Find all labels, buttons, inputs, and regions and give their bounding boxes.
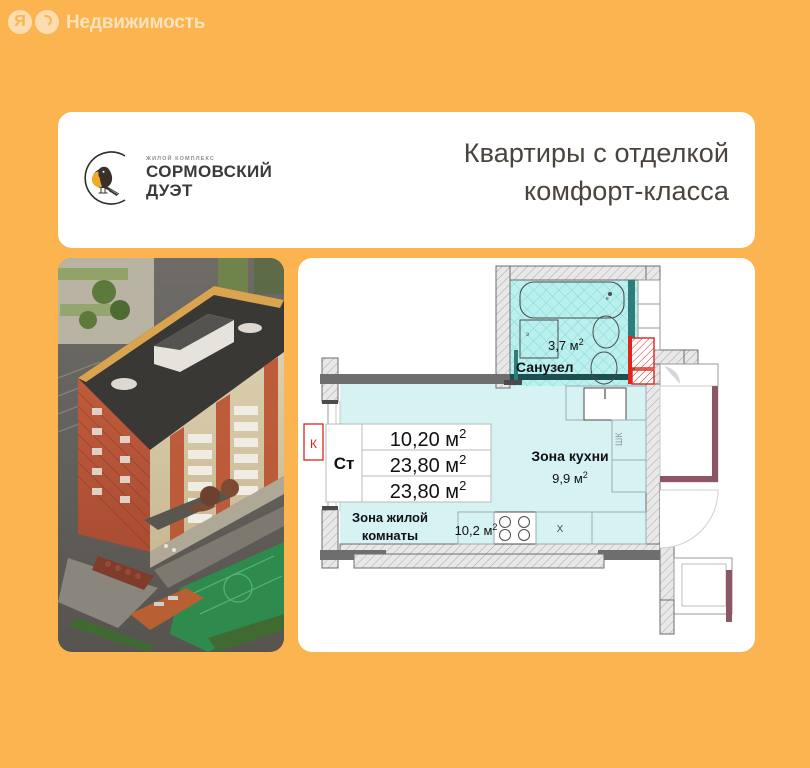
svg-text:К: К bbox=[310, 437, 317, 451]
building-aerial-photo bbox=[58, 258, 284, 652]
svg-text:э: э bbox=[526, 332, 529, 338]
headline-line-2: комфорт-класса bbox=[329, 172, 729, 210]
brand-name-line2: ДУЭТ bbox=[146, 182, 272, 199]
svg-text:Санузел: Санузел bbox=[516, 359, 574, 375]
svg-text:9,9 м2: 9,9 м2 bbox=[552, 470, 588, 486]
brand-name-line1: СОРМОВСКИЙ bbox=[146, 163, 272, 180]
bullfinch-bird-in-circle-logo bbox=[76, 147, 138, 209]
svg-text:23,80 м2: 23,80 м2 bbox=[390, 478, 467, 503]
yandex-compass-icon bbox=[35, 10, 59, 34]
yandex-logo[interactable]: Я bbox=[8, 10, 59, 34]
svg-text:Х: Х bbox=[557, 524, 564, 535]
svg-text:в: в bbox=[606, 296, 609, 302]
header-card: ЖИЛОЙ КОМПЛЕКС СОРМОВСКИЙ ДУЭТ Квартиры … bbox=[58, 112, 755, 248]
svg-text:10,2 м2: 10,2 м2 bbox=[455, 522, 498, 538]
headline-line-1: Квартиры с отделкой bbox=[329, 134, 729, 172]
building-photo-card[interactable] bbox=[58, 258, 284, 652]
yandex-ya-icon: Я bbox=[8, 10, 32, 34]
svg-text:комнаты: комнаты bbox=[362, 528, 418, 543]
complex-brand-block: ЖИЛОЙ КОМПЛЕКС СОРМОВСКИЙ ДУЭТ bbox=[76, 134, 346, 222]
floor-plan-card[interactable]: в э bbox=[298, 258, 755, 652]
svg-text:23,80 м2: 23,80 м2 bbox=[390, 452, 467, 477]
svg-text:Зона кухни: Зона кухни bbox=[531, 448, 608, 464]
svg-text:ШК: ШК bbox=[614, 432, 624, 446]
svg-text:Зона жилой: Зона жилой bbox=[352, 510, 428, 525]
page-title: Квартиры с отделкой комфорт-класса bbox=[329, 134, 729, 211]
area-table: Ст 10,20 м2 23,80 м2 23,80 м2 bbox=[326, 424, 491, 503]
svg-text:3,7 м2: 3,7 м2 bbox=[548, 337, 584, 353]
service-name-label: Недвижимость bbox=[66, 13, 205, 32]
floor-plan: в э bbox=[298, 258, 755, 652]
entrance-marker: К bbox=[304, 424, 323, 460]
yandex-header-bar: Я Недвижимость bbox=[0, 0, 810, 44]
svg-text:10,20 м2: 10,20 м2 bbox=[390, 426, 467, 451]
svg-text:Ст: Ст bbox=[334, 454, 355, 473]
